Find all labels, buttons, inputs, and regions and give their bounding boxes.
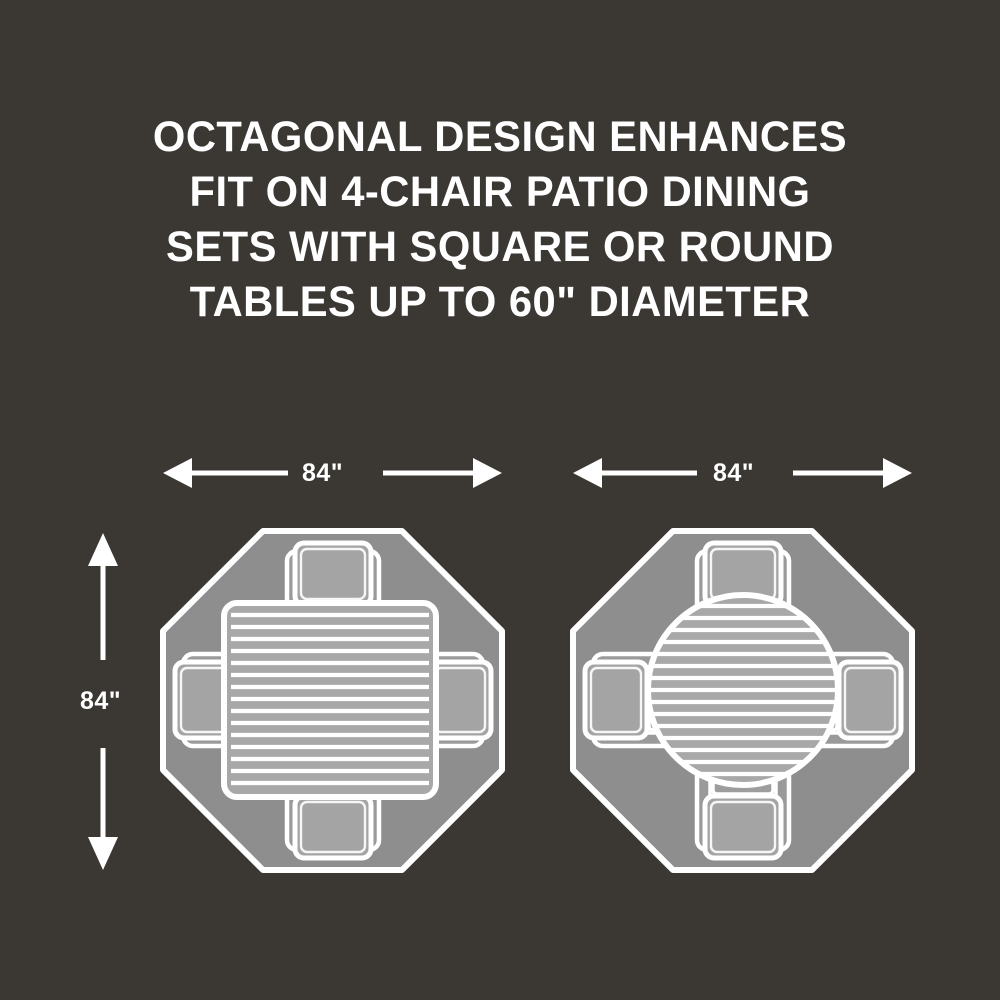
diagram-square-table-set: [163, 531, 502, 870]
dimension-label-width-right: 84": [713, 459, 754, 488]
table-round: [647, 595, 839, 785]
dimension-label-width-left: 84": [302, 459, 343, 488]
table-square: [224, 603, 436, 797]
dimension-label-height: 84": [80, 687, 121, 716]
infographic-canvas: OCTAGONAL DESIGN ENHANCES FIT ON 4-CHAIR…: [0, 0, 1000, 1000]
diagram-svg: [0, 0, 1000, 1000]
diagram-round-table-set: [573, 531, 912, 870]
